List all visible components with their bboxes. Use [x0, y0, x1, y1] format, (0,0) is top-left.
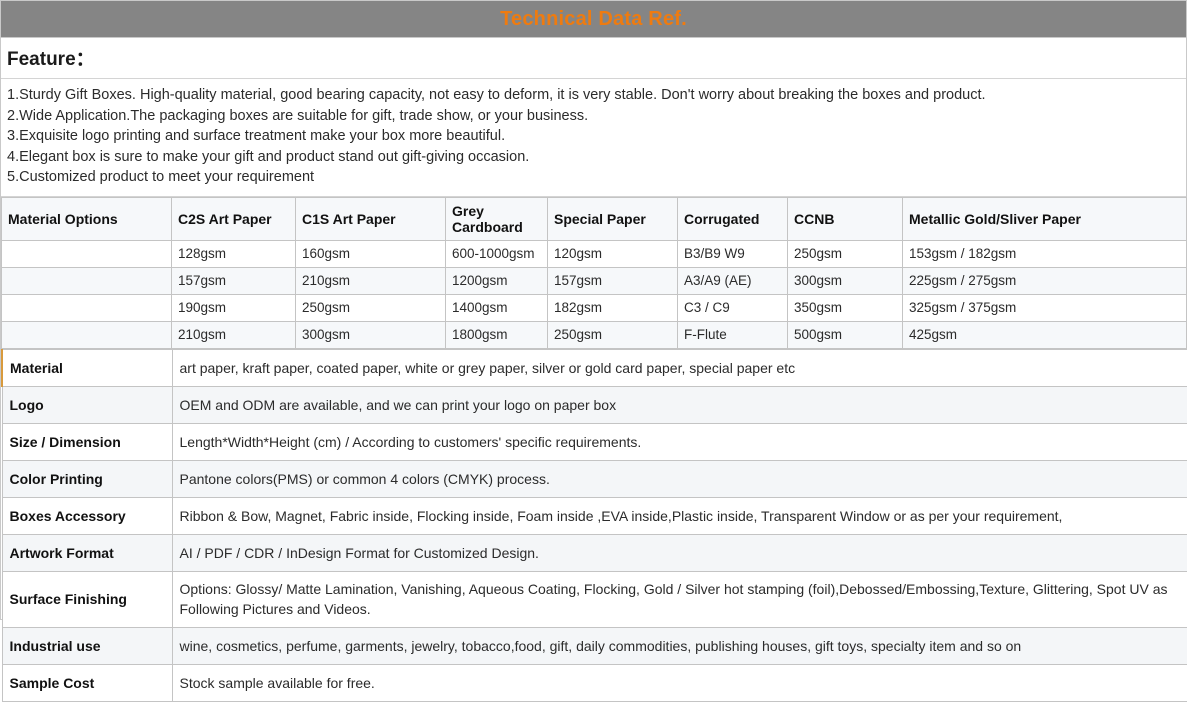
spec-label: Boxes Accessory: [2, 497, 172, 534]
column-header-metallic-paper: Metallic Gold/Sliver Paper: [903, 197, 1187, 240]
page-title: Technical Data Ref.: [500, 8, 687, 31]
table-header-row: Material Options C2S Art Paper C1S Art P…: [2, 197, 1187, 240]
spec-row-industrial-use: Industrial use wine, cosmetics, perfume,…: [2, 627, 1187, 664]
cell-c2s: 128gsm: [172, 240, 296, 267]
cell-c2s: 157gsm: [172, 267, 296, 294]
specification-table: Material art paper, kraft paper, coated …: [1, 349, 1187, 702]
cell-special: 250gsm: [548, 321, 678, 348]
feature-heading-row: Feature：: [1, 38, 1186, 79]
spec-row-surface-finishing: Surface Finishing Options: Glossy/ Matte…: [2, 571, 1187, 627]
material-options-table: Material Options C2S Art Paper C1S Art P…: [1, 197, 1187, 349]
feature-line: 3.Exquisite logo printing and surface tr…: [7, 126, 1180, 147]
spec-value: Options: Glossy/ Matte Lamination, Vanis…: [172, 571, 1187, 627]
cell-metallic: 325gsm / 375gsm: [903, 294, 1187, 321]
feature-heading: Feature：: [7, 44, 1180, 71]
cell-corrugated: B3/B9 W9: [678, 240, 788, 267]
spec-row-logo: Logo OEM and ODM are available, and we c…: [2, 386, 1187, 423]
cell-special: 157gsm: [548, 267, 678, 294]
spec-row-size-dimension: Size / Dimension Length*Width*Height (cm…: [2, 423, 1187, 460]
spec-label: Color Printing: [2, 460, 172, 497]
spec-label: Artwork Format: [2, 534, 172, 571]
cell-ccnb: 350gsm: [788, 294, 903, 321]
feature-line: 2.Wide Application.The packaging boxes a…: [7, 106, 1180, 127]
technical-data-sheet: Technical Data Ref. Feature： 1.Sturdy Gi…: [0, 0, 1187, 620]
column-header-grey-cardboard: Grey Cardboard: [446, 197, 548, 240]
feature-line: 4.Elegant box is sure to make your gift …: [7, 147, 1180, 168]
column-header-corrugated: Corrugated: [678, 197, 788, 240]
spec-value: Stock sample available for free.: [172, 664, 1187, 701]
cell-metallic: 153gsm / 182gsm: [903, 240, 1187, 267]
table-row: 128gsm 160gsm 600-1000gsm 120gsm B3/B9 W…: [2, 240, 1187, 267]
cell-metallic: 225gsm / 275gsm: [903, 267, 1187, 294]
spec-row-material: Material art paper, kraft paper, coated …: [2, 349, 1187, 386]
cell-grey: 1400gsm: [446, 294, 548, 321]
column-header-ccnb: CCNB: [788, 197, 903, 240]
cell-material-options: [2, 267, 172, 294]
feature-line: 1.Sturdy Gift Boxes. High-quality materi…: [7, 85, 1180, 106]
column-header-c2s-art-paper: C2S Art Paper: [172, 197, 296, 240]
spec-value: AI / PDF / CDR / InDesign Format for Cus…: [172, 534, 1187, 571]
cell-grey: 1200gsm: [446, 267, 548, 294]
spec-value: art paper, kraft paper, coated paper, wh…: [172, 349, 1187, 386]
cell-grey: 600-1000gsm: [446, 240, 548, 267]
spec-row-boxes-accessory: Boxes Accessory Ribbon & Bow, Magnet, Fa…: [2, 497, 1187, 534]
cell-corrugated: A3/A9 (AE): [678, 267, 788, 294]
table-row: 190gsm 250gsm 1400gsm 182gsm C3 / C9 350…: [2, 294, 1187, 321]
cell-ccnb: 500gsm: [788, 321, 903, 348]
spec-value: OEM and ODM are available, and we can pr…: [172, 386, 1187, 423]
spec-value: Pantone colors(PMS) or common 4 colors (…: [172, 460, 1187, 497]
table-row: 157gsm 210gsm 1200gsm 157gsm A3/A9 (AE) …: [2, 267, 1187, 294]
cell-grey: 1800gsm: [446, 321, 548, 348]
column-header-special-paper: Special Paper: [548, 197, 678, 240]
spec-row-artwork-format: Artwork Format AI / PDF / CDR / InDesign…: [2, 534, 1187, 571]
spec-label: Surface Finishing: [2, 571, 172, 627]
cell-material-options: [2, 240, 172, 267]
cell-special: 182gsm: [548, 294, 678, 321]
cell-c2s: 190gsm: [172, 294, 296, 321]
header-banner: Technical Data Ref.: [1, 1, 1186, 38]
spec-label: Size / Dimension: [2, 423, 172, 460]
spec-row-sample-cost: Sample Cost Stock sample available for f…: [2, 664, 1187, 701]
spec-value: Length*Width*Height (cm) / According to …: [172, 423, 1187, 460]
cell-corrugated: F-Flute: [678, 321, 788, 348]
cell-material-options: [2, 321, 172, 348]
cell-metallic: 425gsm: [903, 321, 1187, 348]
spec-value: Ribbon & Bow, Magnet, Fabric inside, Flo…: [172, 497, 1187, 534]
cell-material-options: [2, 294, 172, 321]
spec-row-color-printing: Color Printing Pantone colors(PMS) or co…: [2, 460, 1187, 497]
feature-list: 1.Sturdy Gift Boxes. High-quality materi…: [1, 79, 1186, 197]
cell-ccnb: 300gsm: [788, 267, 903, 294]
cell-c1s: 160gsm: [296, 240, 446, 267]
cell-c1s: 250gsm: [296, 294, 446, 321]
cell-c1s: 210gsm: [296, 267, 446, 294]
spec-label: Logo: [2, 386, 172, 423]
column-header-material-options: Material Options: [2, 197, 172, 240]
spec-value: wine, cosmetics, perfume, garments, jewe…: [172, 627, 1187, 664]
cell-special: 120gsm: [548, 240, 678, 267]
table-row: 210gsm 300gsm 1800gsm 250gsm F-Flute 500…: [2, 321, 1187, 348]
feature-line: 5.Customized product to meet your requir…: [7, 167, 1180, 188]
column-header-c1s-art-paper: C1S Art Paper: [296, 197, 446, 240]
spec-label: Material: [2, 349, 172, 386]
spec-label: Industrial use: [2, 627, 172, 664]
cell-ccnb: 250gsm: [788, 240, 903, 267]
spec-label: Sample Cost: [2, 664, 172, 701]
cell-corrugated: C3 / C9: [678, 294, 788, 321]
cell-c1s: 300gsm: [296, 321, 446, 348]
cell-c2s: 210gsm: [172, 321, 296, 348]
